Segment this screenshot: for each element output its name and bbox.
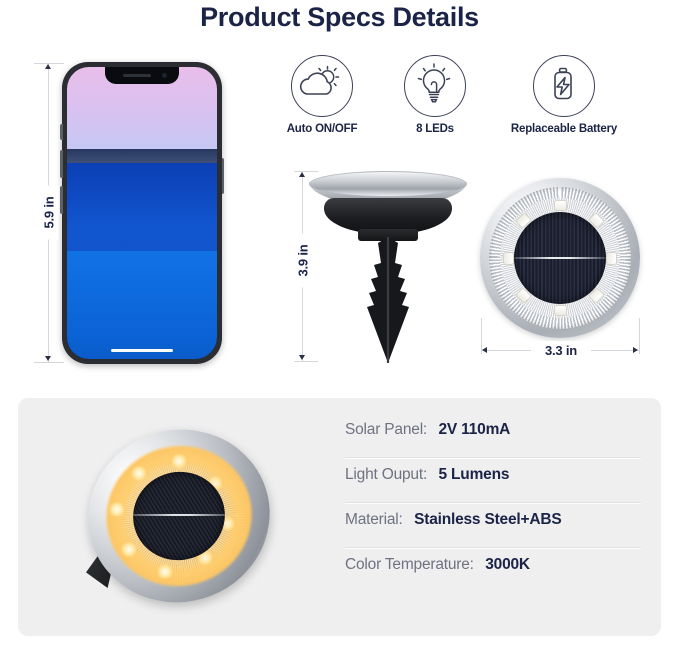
lamp-top-view-image xyxy=(480,178,640,338)
spec-row: Solar Panel: 2V 110mA xyxy=(345,414,645,459)
feature-item-auto-onoff: Auto ON/OFF xyxy=(262,55,382,135)
feature-label: Replaceable Battery xyxy=(484,123,644,135)
lightbulb-icon xyxy=(404,55,466,117)
feature-item-replaceable-battery: Replaceable Battery xyxy=(484,55,644,135)
spec-row: Material: Stainless Steel+ABS xyxy=(345,504,645,549)
feature-label: Auto ON/OFF xyxy=(262,123,382,135)
feature-item-8-leds: 8 LEDs xyxy=(375,55,495,135)
spec-label: Light Ouput: xyxy=(345,466,427,483)
spec-table: Solar Panel: 2V 110mA Light Ouput: 5 Lum… xyxy=(345,414,645,594)
sun-cloud-icon xyxy=(291,55,353,117)
spec-label: Color Temperature: xyxy=(345,556,474,573)
spec-value: 3000K xyxy=(485,556,530,573)
spec-value: 5 Lumens xyxy=(439,466,510,483)
spec-row: Light Ouput: 5 Lumens xyxy=(345,459,645,504)
page-title: Product Specs Details xyxy=(0,2,679,33)
lamp-side-view-image xyxy=(300,165,475,365)
feature-label: 8 LEDs xyxy=(375,123,495,135)
dimension-label: 3.3 in xyxy=(531,341,591,360)
spec-label: Solar Panel: xyxy=(345,421,427,438)
battery-bolt-icon xyxy=(533,55,595,117)
feature-list: Auto ON/OFF xyxy=(262,55,662,135)
iphone-reference-image xyxy=(62,62,222,364)
lamp-lit-product-image xyxy=(78,428,278,613)
dimension-label: 5.9 in xyxy=(40,186,59,240)
spec-value: Stainless Steel+ABS xyxy=(414,511,561,528)
infographic-root: Product Specs Details Auto ON/OFF xyxy=(0,0,679,650)
spec-row: Color Temperature: 3000K xyxy=(345,549,645,594)
dimension-label: 3.9 in xyxy=(294,234,313,288)
spec-value: 2V 110mA xyxy=(439,421,511,438)
spec-label: Material: xyxy=(345,511,403,528)
